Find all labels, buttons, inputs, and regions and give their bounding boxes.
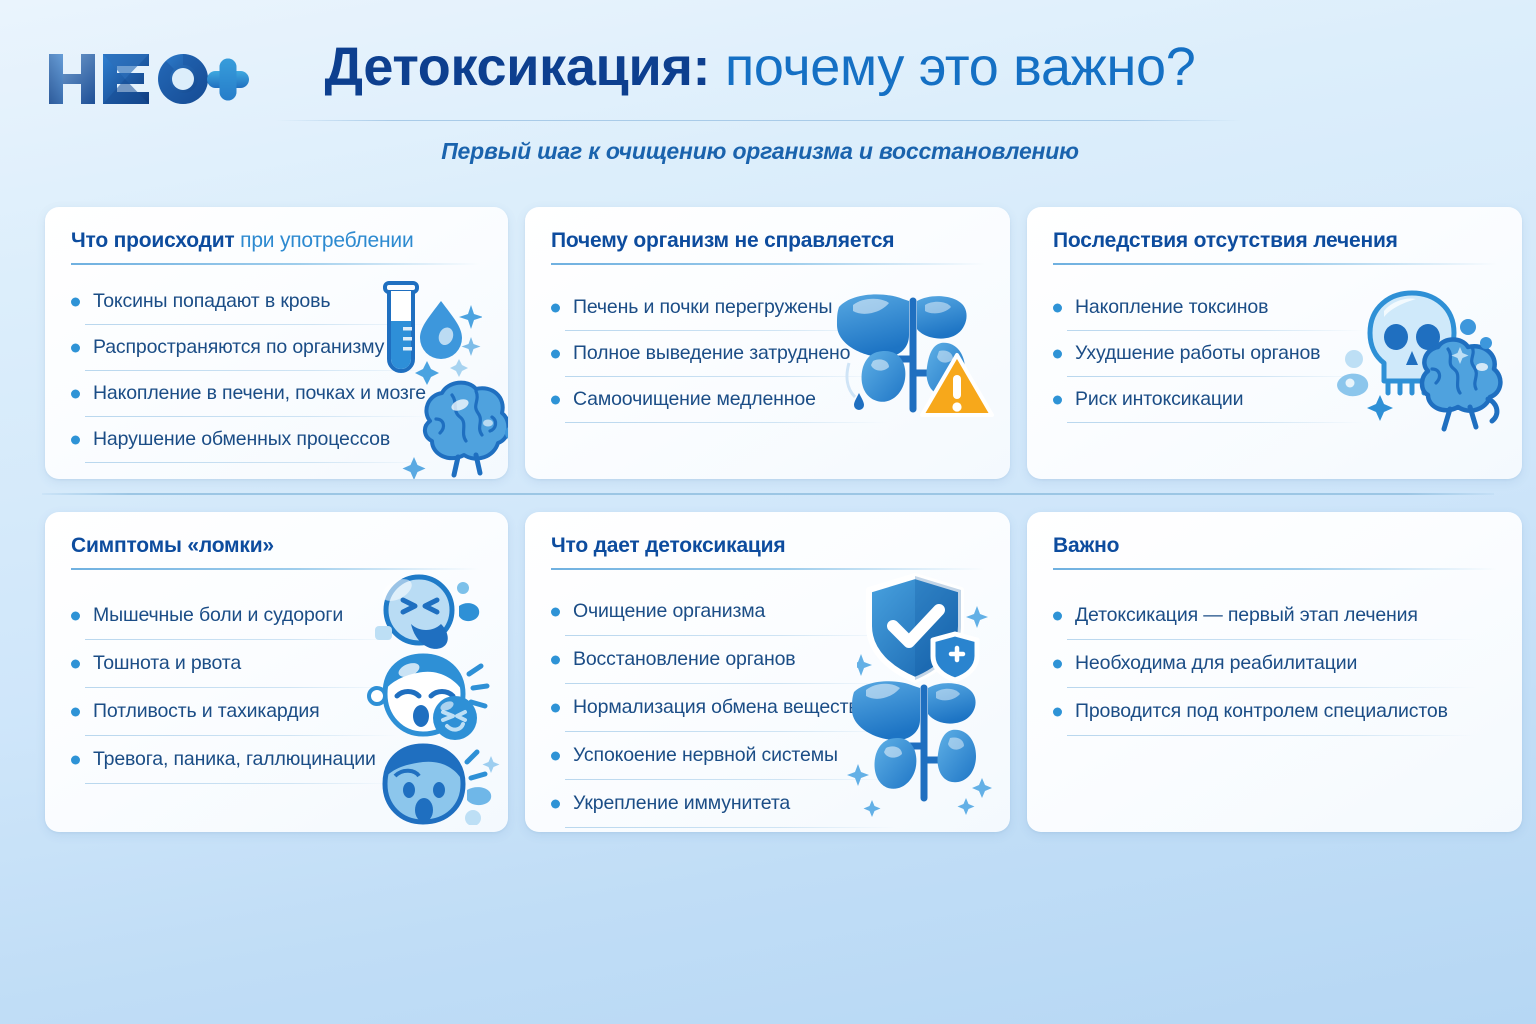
list-item: Проводится под контролем специалистов — [1053, 688, 1448, 736]
list-item: Укрепление иммунитета — [551, 780, 859, 828]
list-item-label: Проводится под контролем специалистов — [1075, 700, 1448, 723]
list-item-label: Самоочищение медленное — [573, 388, 850, 411]
list-item-label: Нарушение обменных процессов — [93, 428, 426, 451]
list-item: Токсины попадают в кровь — [71, 279, 426, 325]
bullet-icon — [551, 304, 560, 313]
list-item: Самоочищение медленное — [551, 377, 850, 423]
list-item-label: Риск интоксикации — [1075, 388, 1320, 411]
infographic-canvas: Детоксикация: почему это важно? Первый ш… — [0, 0, 1536, 1024]
list-item: Тошнота и рвота — [71, 640, 376, 688]
card-title-underline — [71, 263, 479, 265]
bullet-icon — [71, 298, 80, 307]
bullet-icon — [1053, 708, 1062, 717]
list-item: Детоксикация — первый этап лечения — [1053, 592, 1448, 640]
card-title: Важно — [1053, 534, 1498, 558]
card-list: Детоксикация — первый этап лечения Необх… — [1053, 592, 1448, 736]
bullet-icon — [551, 396, 560, 405]
card-withdrawal-symptoms: Симптомы «ломки» Мышечные боли и судорог… — [45, 512, 508, 832]
card-what-happens: Что происходит при употреблении Токсины … — [45, 207, 508, 479]
list-item-label: Восстановление органов — [573, 648, 859, 671]
card-important: Важно Детоксикация — первый этап лечения… — [1027, 512, 1522, 832]
page-subtitle: Первый шаг к очищению организма и восста… — [270, 138, 1250, 165]
list-item: Накопление в печени, почках и мозге — [71, 371, 426, 417]
bullet-icon — [551, 608, 560, 617]
list-item-label: Детоксикация — первый этап лечения — [1075, 604, 1448, 627]
card-consequences: Последствия отсутствия лечения Накоплени… — [1027, 207, 1522, 479]
page-title: Детоксикация: почему это важно? — [270, 36, 1250, 98]
list-item: Мышечные боли и судороги — [71, 592, 376, 640]
card-title-bold: Что дает детоксикация — [551, 534, 785, 557]
card-title-bold: Почему организм не справляется — [551, 229, 894, 252]
list-item-label: Полное выведение затруднено — [573, 342, 850, 365]
card-list: Накопление токсинов Ухудшение работы орг… — [1053, 285, 1320, 423]
bullet-icon — [71, 344, 80, 353]
card-title-underline — [1053, 263, 1497, 265]
list-item: Тревога, паника, галлюцинации — [71, 736, 376, 784]
item-underline — [85, 783, 397, 784]
list-item: Накопление токсинов — [1053, 285, 1320, 331]
cards-row-top: Что происходит при употреблении Токсины … — [45, 207, 1522, 479]
bullet-icon — [71, 660, 80, 669]
list-item-label: Нормализация обмена веществ — [573, 696, 859, 719]
list-item-label: Ухудшение работы органов — [1075, 342, 1320, 365]
bullet-icon — [551, 800, 560, 809]
list-item-label: Очищение организма — [573, 600, 859, 623]
card-list: Токсины попадают в кровь Распространяютс… — [71, 279, 426, 463]
list-item: Полное выведение затруднено — [551, 331, 850, 377]
bullet-icon — [71, 756, 80, 765]
card-title-bold: Симптомы «ломки» — [71, 534, 274, 557]
liver-kidneys-warning-icon — [829, 281, 994, 421]
card-title-underline — [71, 568, 479, 570]
list-item-label: Мышечные боли и судороги — [93, 604, 376, 627]
skull-brain-icon — [1328, 285, 1518, 435]
card-list: Очищение организма Восстановление органо… — [551, 588, 859, 828]
page-title-light: почему это важно? — [710, 37, 1195, 97]
card-title-underline — [551, 263, 985, 265]
item-underline — [565, 827, 895, 828]
list-item: Необходима для реабилитации — [1053, 640, 1448, 688]
list-item: Потливость и тахикардия — [71, 688, 376, 736]
card-detox-benefits: Что дает детоксикация Очищение организма… — [525, 512, 1010, 832]
bullet-icon — [71, 390, 80, 399]
list-item: Успокоение нервной системы — [551, 732, 859, 780]
item-underline — [1067, 735, 1477, 736]
bullet-icon — [1053, 612, 1062, 621]
bullet-icon — [71, 612, 80, 621]
bullet-icon — [551, 656, 560, 665]
list-item-label: Накопление в печени, почках и мозге — [93, 382, 426, 405]
bullet-icon — [551, 350, 560, 359]
list-item-label: Токсины попадают в кровь — [93, 290, 426, 313]
card-title: Почему организм не справляется — [551, 229, 986, 253]
neo-plus-logo — [45, 48, 250, 110]
card-why-body-fails: Почему организм не справляется Печень и … — [525, 207, 1010, 479]
card-title-underline — [1053, 568, 1497, 570]
title-divider — [276, 120, 1242, 121]
list-item: Нормализация обмена веществ — [551, 684, 859, 732]
bullet-icon — [551, 704, 560, 713]
card-list: Мышечные боли и судороги Тошнота и рвота… — [71, 592, 376, 784]
item-underline — [85, 462, 433, 463]
card-title-bold: Что происходит — [71, 229, 235, 252]
bullet-icon — [1053, 350, 1062, 359]
item-underline — [1067, 422, 1363, 423]
bullet-icon — [71, 436, 80, 445]
list-item: Риск интоксикации — [1053, 377, 1320, 423]
list-item: Распространяются по организму — [71, 325, 426, 371]
list-item-label: Тревога, паника, галлюцинации — [93, 748, 376, 771]
list-item: Восстановление органов — [551, 636, 859, 684]
list-item-label: Накопление токсинов — [1075, 296, 1320, 319]
list-item-label: Распространяются по организму — [93, 336, 426, 359]
list-item-label: Укрепление иммунитета — [573, 792, 859, 815]
list-item-label: Потливость и тахикардия — [93, 700, 376, 723]
card-title: Последствия отсутствия лечения — [1053, 229, 1498, 253]
row-divider — [42, 493, 1494, 495]
liver-kidneys-icon — [846, 672, 996, 817]
card-title: Что происходит при употреблении — [71, 229, 484, 253]
list-item: Печень и почки перегружены — [551, 285, 850, 331]
bullet-icon — [1053, 304, 1062, 313]
card-title: Что дает детоксикация — [551, 534, 986, 558]
symptom-faces-icon — [367, 570, 502, 825]
item-underline — [565, 422, 887, 423]
bullet-icon — [1053, 396, 1062, 405]
list-item: Нарушение обменных процессов — [71, 417, 426, 463]
bullet-icon — [551, 752, 560, 761]
list-item: Очищение организма — [551, 588, 859, 636]
card-title-underline — [551, 568, 985, 570]
list-item-label: Успокоение нервной системы — [573, 744, 859, 767]
page-title-bold: Детоксикация: — [324, 37, 710, 97]
card-title-bold: Последствия отсутствия лечения — [1053, 229, 1398, 252]
list-item-label: Печень и почки перегружены — [573, 296, 850, 319]
list-item-label: Тошнота и рвота — [93, 652, 376, 675]
card-title-rest: при употреблении — [235, 229, 414, 252]
card-title: Симптомы «ломки» — [71, 534, 484, 558]
bullet-icon — [71, 708, 80, 717]
bullet-icon — [1053, 660, 1062, 669]
list-item-label: Необходима для реабилитации — [1075, 652, 1448, 675]
card-list: Печень и почки перегружены Полное выведе… — [551, 285, 850, 423]
header: Детоксикация: почему это важно? Первый ш… — [0, 0, 1536, 190]
card-title-bold: Важно — [1053, 534, 1119, 557]
cards-row-bottom: Симптомы «ломки» Мышечные боли и судорог… — [45, 512, 1522, 832]
list-item: Ухудшение работы органов — [1053, 331, 1320, 377]
